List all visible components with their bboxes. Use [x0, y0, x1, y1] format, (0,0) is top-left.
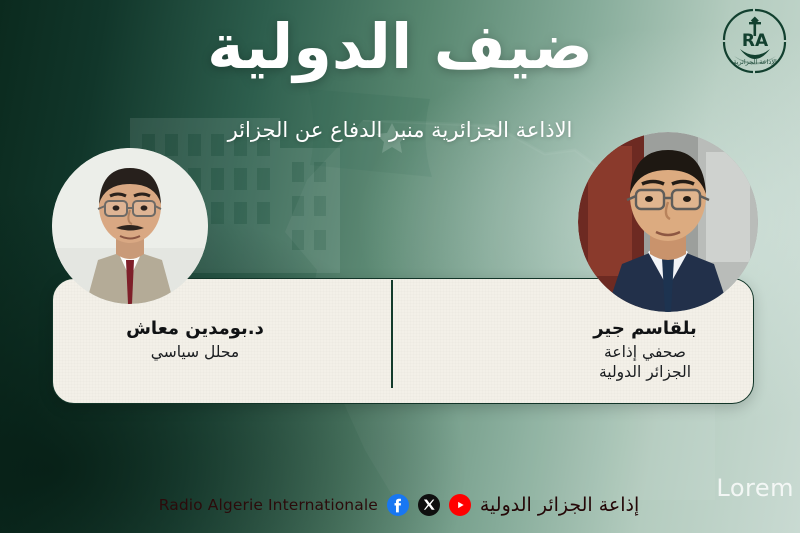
guest-1-role: محلل سياسي: [60, 342, 330, 362]
footer-bar: Radio Algerie Internationale إذاعة الجزا…: [0, 494, 800, 516]
x-twitter-icon[interactable]: [418, 494, 440, 516]
guest-2-role: صحفي إذاعة: [545, 342, 745, 362]
footer-latin-label: Radio Algerie Internationale: [159, 496, 378, 514]
page-title: ضيف الدولية: [0, 8, 800, 86]
avatar-guest-1: [52, 148, 208, 304]
guest-2-role-line2: الجزائر الدولية: [545, 362, 745, 382]
avatar-guest-2: [578, 132, 758, 312]
guest-2-info: بلقاسم جير صحفي إذاعة الجزائر الدولية: [545, 316, 745, 382]
facebook-icon[interactable]: [387, 494, 409, 516]
poster-canvas: RA الإذاعة الجزائرية ضيف الدولية الاذاعة…: [0, 0, 800, 533]
card-divider: [391, 280, 393, 388]
footer-arabic-label: إذاعة الجزائر الدولية: [480, 494, 639, 516]
guest-1-info: د.بومدين معاش محلل سياسي: [60, 316, 330, 362]
youtube-icon[interactable]: [449, 494, 471, 516]
guest-1-name: د.بومدين معاش: [60, 316, 330, 342]
guest-2-name: بلقاسم جير: [545, 316, 745, 342]
